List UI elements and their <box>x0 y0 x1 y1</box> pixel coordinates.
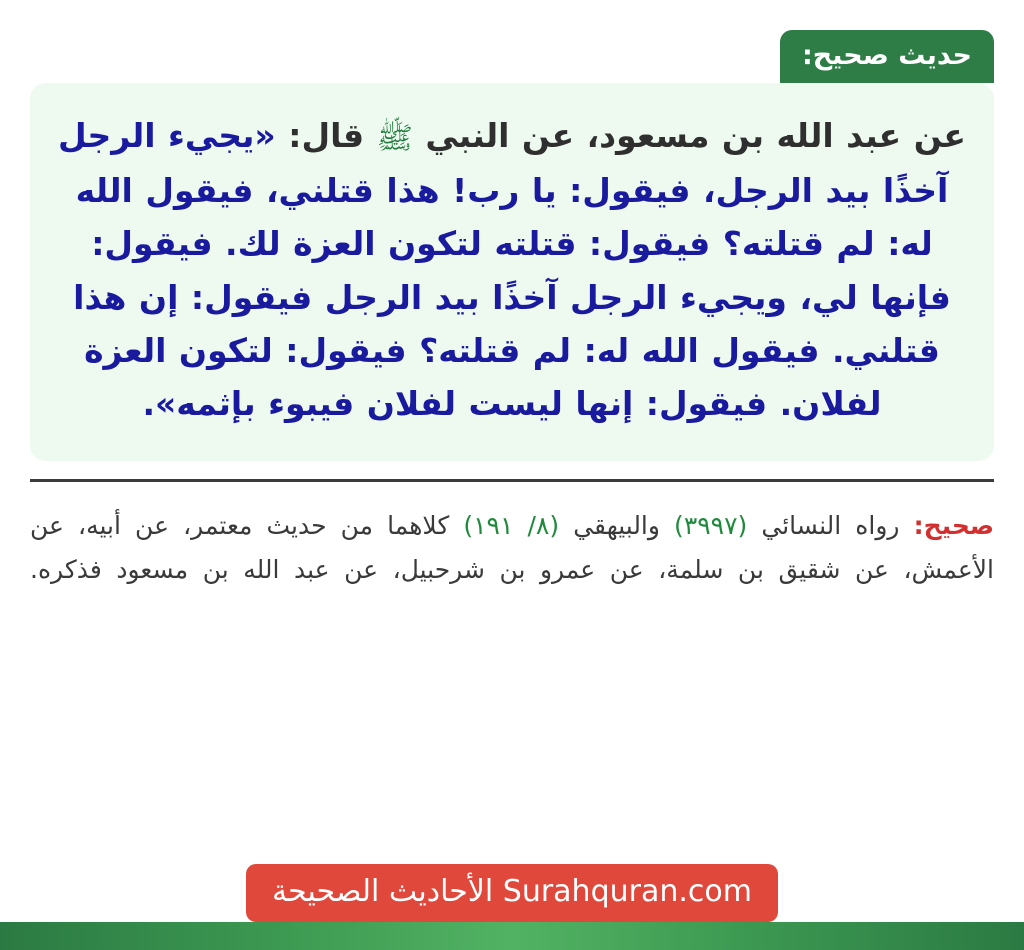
attribution-reference-nasai: (٣٩٩٧) <box>674 511 747 540</box>
bottom-accent-bar <box>0 922 1024 950</box>
salla-allahu-alayhi-wasallam-icon: ﷺ <box>377 115 413 164</box>
hadith-quote-text: «يجيء الرجل آخذًا بيد الرجل، فيقول: يا ر… <box>58 116 951 423</box>
divider-container <box>0 461 1024 482</box>
hadith-card: عن عبد الله بن مسعود، عن النبي ﷺ قال: «ي… <box>30 83 994 461</box>
hadith-body-text: عن عبد الله بن مسعود، عن النبي ﷺ قال: «ي… <box>56 109 968 431</box>
site-badge[interactable]: Surahquran.com الأحاديث الصحيحة <box>246 864 778 922</box>
hadith-said-word: قال: <box>288 116 364 155</box>
attribution-part-2: والبيهقي <box>573 511 660 540</box>
section-divider <box>30 479 994 482</box>
grade-badge-row: حديث صحيح: <box>0 0 1024 83</box>
hadith-grade-badge: حديث صحيح: <box>780 30 994 83</box>
attribution-reference-bayhaqi: (٨/ ١٩١) <box>463 511 559 540</box>
attribution-grade-word: صحيح: <box>914 511 994 540</box>
footer-badge-row: Surahquran.com الأحاديث الصحيحة <box>0 864 1024 922</box>
site-url-label: Surahquran.com <box>503 877 752 907</box>
site-name-label: الأحاديث الصحيحة <box>272 874 493 909</box>
attribution-part-1: رواه النسائي <box>761 511 899 540</box>
hadith-card-page: حديث صحيح: عن عبد الله بن مسعود، عن النب… <box>0 0 1024 950</box>
attribution-block: صحيح: رواه النسائي (٣٩٩٧) والبيهقي (٨/ ١… <box>30 504 994 592</box>
hadith-narration-intro: عن عبد الله بن مسعود، عن النبي <box>425 116 966 155</box>
